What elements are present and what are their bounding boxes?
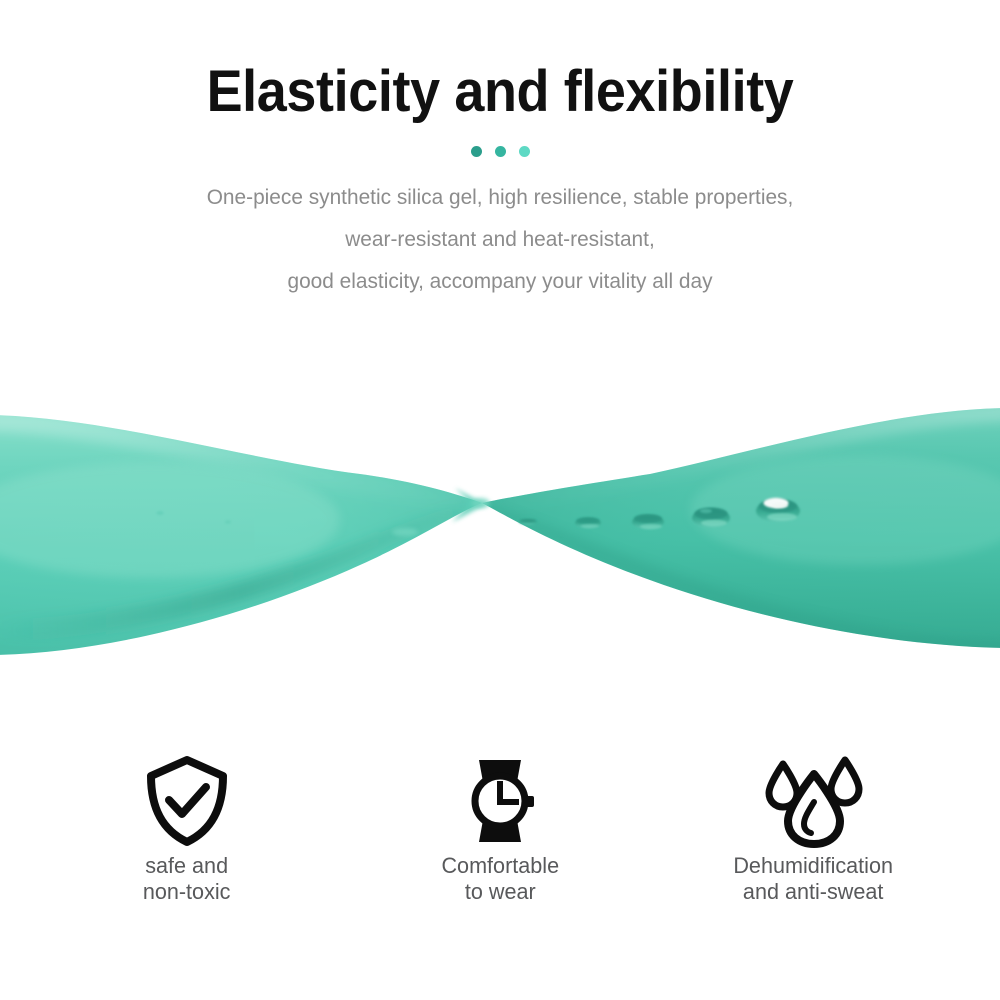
feature-caption-line-2: to wear	[441, 879, 559, 905]
header: Elasticity and flexibility One-piece syn…	[0, 0, 1000, 302]
dot-separator	[0, 145, 1000, 159]
adjustment-hole-1	[519, 519, 537, 525]
dot-2-icon	[495, 146, 506, 157]
feature-caption: Comfortable to wear	[441, 853, 559, 905]
feature-row: safe and non-toxic	[0, 755, 1000, 955]
feature-safe-non-toxic: safe and non-toxic	[31, 755, 344, 905]
dot-1-icon	[471, 146, 482, 157]
product-infographic: Elasticity and flexibility One-piece syn…	[0, 0, 1000, 1000]
water-drops-icon	[761, 755, 865, 847]
adjustment-hole-3	[632, 514, 664, 529]
feature-caption-line-1: Dehumidification	[733, 853, 893, 879]
band-right-half	[482, 404, 1000, 652]
page-title: Elasticity and flexibility	[35, 0, 965, 123]
feature-caption-line-2: and anti-sweat	[733, 879, 893, 905]
shield-check-icon	[144, 755, 230, 847]
feature-caption-line-1: Comfortable	[441, 853, 559, 879]
feature-comfortable-to-wear: Comfortable to wear	[344, 755, 657, 905]
product-image	[0, 370, 1000, 690]
band-left-half	[0, 412, 495, 655]
dot-3-icon	[519, 146, 530, 157]
subtitle-line-3: good elasticity, accompany your vitality…	[15, 260, 985, 302]
feature-dehumidification: Dehumidification and anti-sweat	[657, 755, 970, 905]
feature-caption: safe and non-toxic	[143, 853, 231, 905]
feature-caption-line-1: safe and	[143, 853, 231, 879]
subtitle-line-1: One-piece synthetic silica gel, high res…	[15, 176, 985, 218]
feature-caption: Dehumidification and anti-sweat	[733, 853, 893, 905]
twisted-band-illustration	[0, 370, 1000, 690]
adjustment-hole-4	[692, 508, 730, 528]
subtitle-line-2: wear-resistant and heat-resistant,	[15, 218, 985, 260]
wristwatch-icon	[457, 755, 543, 847]
adjustment-hole-2	[575, 517, 601, 528]
feature-caption-line-2: non-toxic	[143, 879, 231, 905]
subtitle: One-piece synthetic silica gel, high res…	[15, 176, 985, 302]
